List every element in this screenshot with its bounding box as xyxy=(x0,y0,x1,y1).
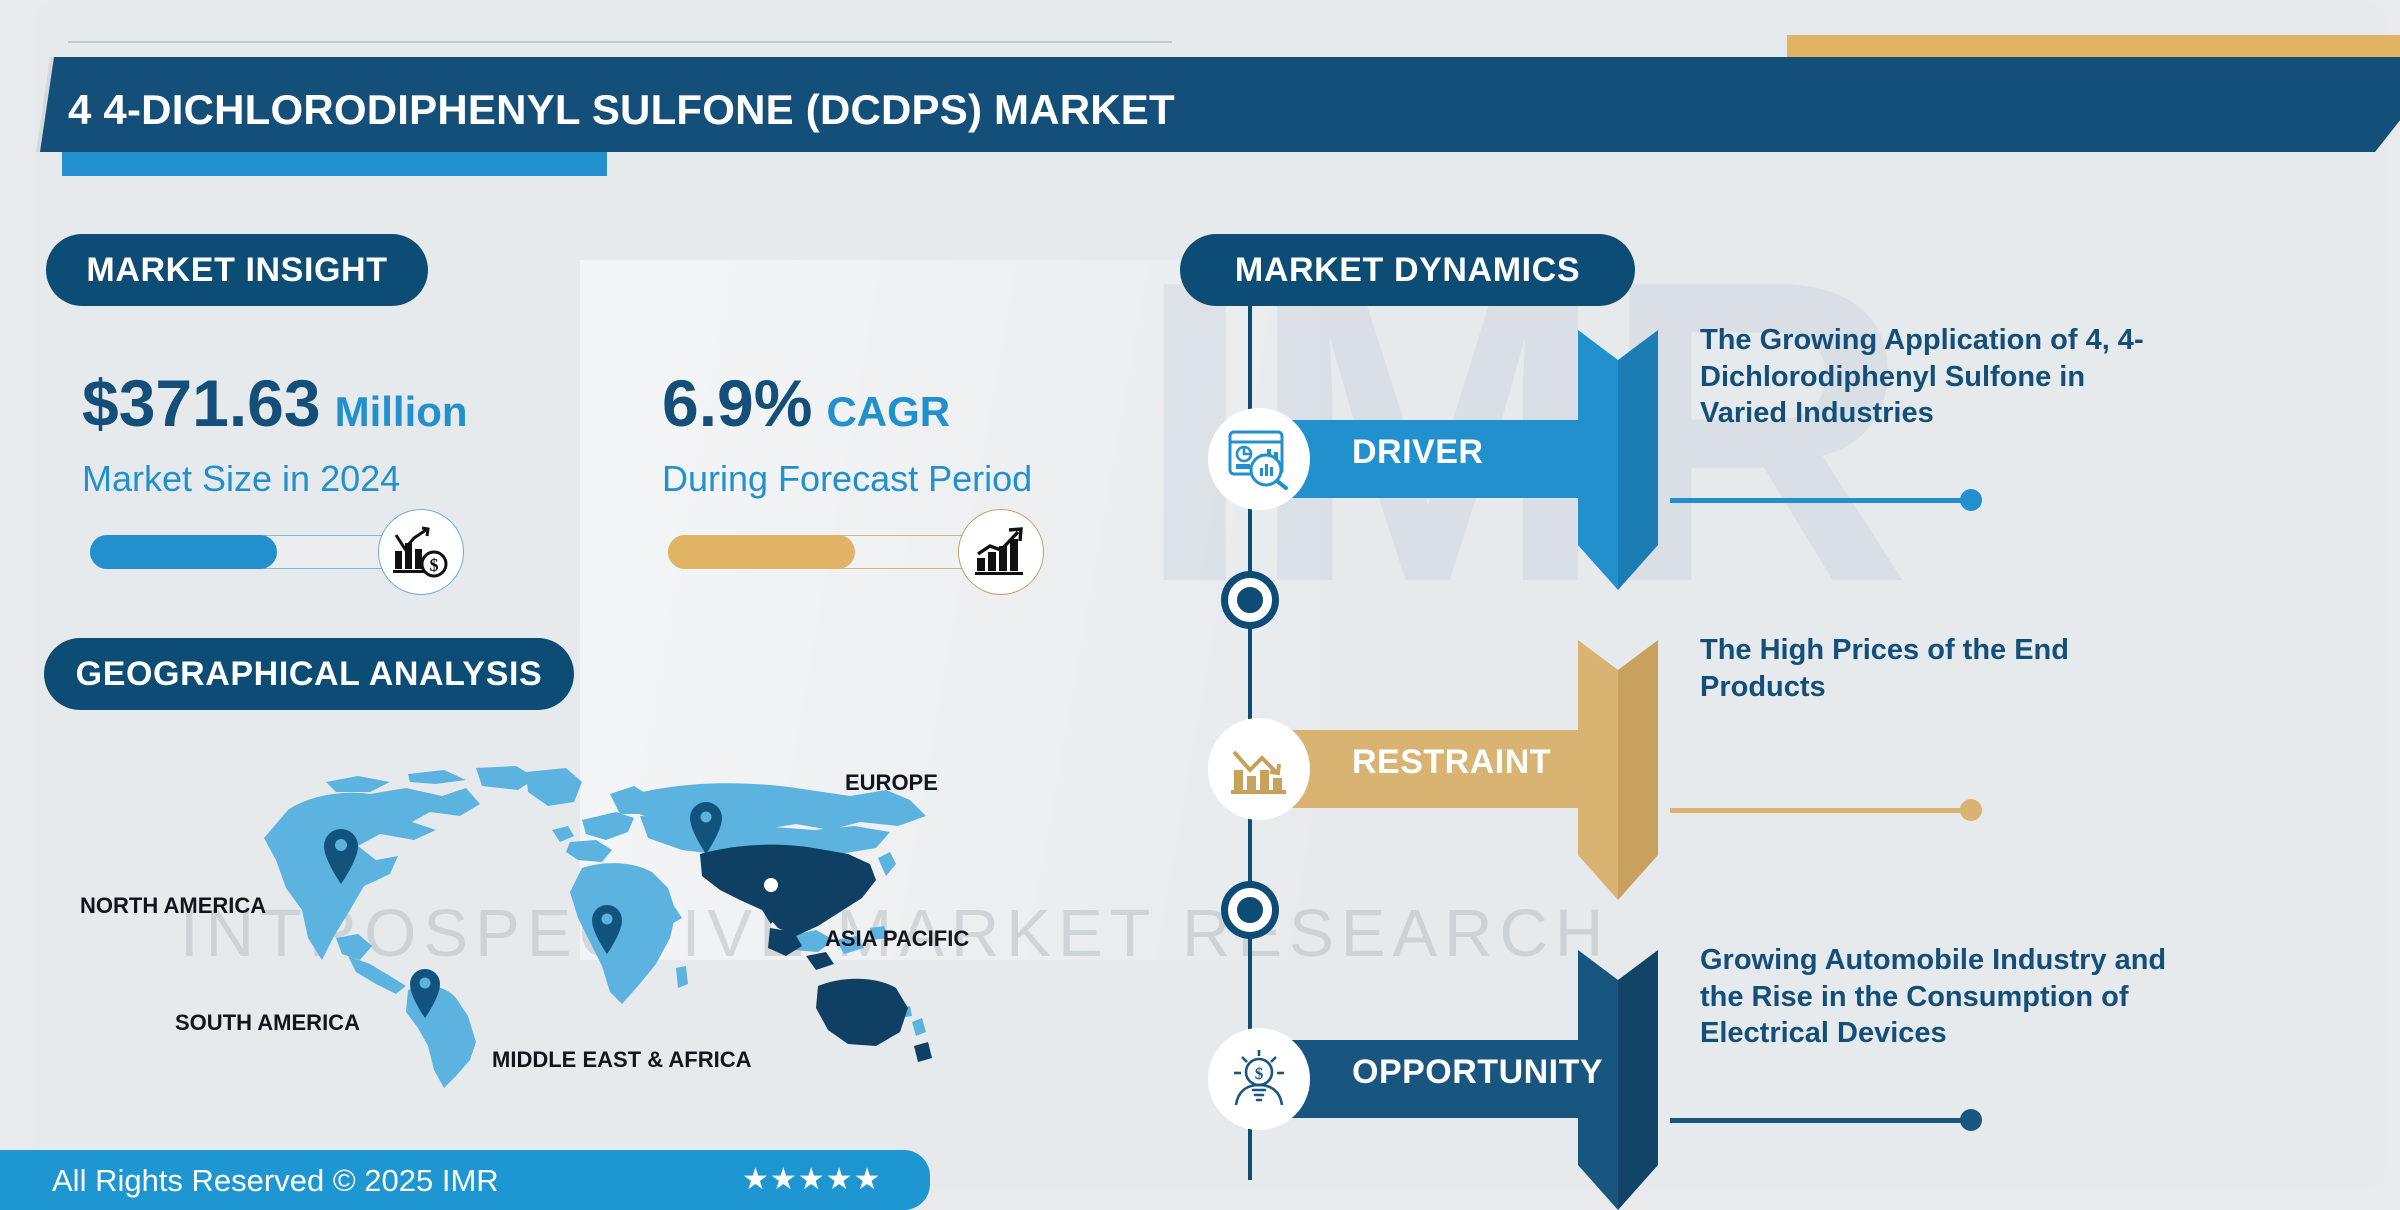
lightbulb-dollar-icon: $ xyxy=(1208,1028,1310,1130)
market-dynamics-heading: MARKET DYNAMICS xyxy=(1180,234,1635,306)
header-accent-bar xyxy=(62,152,607,176)
restraint-text: The High Prices of the End Products xyxy=(1700,632,2170,705)
bar-chart-dollar-icon: $ xyxy=(378,509,464,595)
cagr-progress xyxy=(668,535,990,569)
market-insight-heading: MARKET INSIGHT xyxy=(46,234,428,306)
map-label-south-america: SOUTH AMERICA xyxy=(175,1010,360,1036)
restraint-connector-dot xyxy=(1960,799,1982,821)
market-size-unit: Million xyxy=(335,388,468,436)
map-label-europe: EUROPE xyxy=(845,770,938,796)
opportunity-connector-dot xyxy=(1960,1109,1982,1131)
driver-connector xyxy=(1670,498,1970,503)
growth-arrow-chart-icon xyxy=(958,509,1044,595)
map-label-asia-pacific: ASIA PACIFIC xyxy=(825,926,969,952)
declining-bar-chart-icon xyxy=(1208,718,1310,820)
infographic-canvas: IMR INTROSPECTIVE MARKET RESEARCH 4 4-DI… xyxy=(0,0,2400,1210)
geographical-analysis-heading: GEOGRAPHICAL ANALYSIS xyxy=(44,638,574,710)
copyright-text: All Rights Reserved © 2025 IMR xyxy=(52,1163,499,1199)
stat-market-size: $371.63 Million Market Size in 2024 xyxy=(82,370,468,500)
map-label-middle-east-africa: MIDDLE EAST & AFRICA xyxy=(492,1047,752,1073)
market-size-progress xyxy=(90,535,412,569)
progress-fill xyxy=(90,535,277,569)
header-rule xyxy=(68,41,1172,43)
rating-stars: ★★★★★ xyxy=(742,1162,881,1197)
opportunity-connector xyxy=(1670,1118,1970,1123)
opportunity-label: OPPORTUNITY xyxy=(1352,1053,1603,1092)
market-size-value: $371.63 xyxy=(82,370,321,436)
map-label-north-america: NORTH AMERICA xyxy=(80,893,266,919)
timeline-node xyxy=(1228,888,1272,932)
cagr-caption: During Forecast Period xyxy=(662,458,1032,500)
map-pins xyxy=(230,760,950,1090)
restraint-connector xyxy=(1670,808,1970,813)
restraint-label: RESTRAINT xyxy=(1352,743,1551,782)
page-title: 4 4-DICHLORODIPHENYL SULFONE (DCDPS) MAR… xyxy=(68,86,1968,134)
stat-cagr: 6.9% CAGR During Forecast Period xyxy=(662,370,1032,500)
market-size-caption: Market Size in 2024 xyxy=(82,458,468,500)
progress-fill xyxy=(668,535,855,569)
timeline-node xyxy=(1228,578,1272,622)
svg-text:$: $ xyxy=(430,555,439,575)
cagr-value: 6.9% xyxy=(662,370,812,436)
svg-text:$: $ xyxy=(1255,1064,1264,1083)
dashboard-analysis-icon xyxy=(1208,408,1310,510)
driver-text: The Growing Application of 4, 4-Dichloro… xyxy=(1700,322,2170,432)
opportunity-text: Growing Automobile Industry and the Rise… xyxy=(1700,942,2170,1052)
driver-label: DRIVER xyxy=(1352,433,1483,472)
driver-connector-dot xyxy=(1960,489,1982,511)
cagr-unit: CAGR xyxy=(826,388,950,436)
